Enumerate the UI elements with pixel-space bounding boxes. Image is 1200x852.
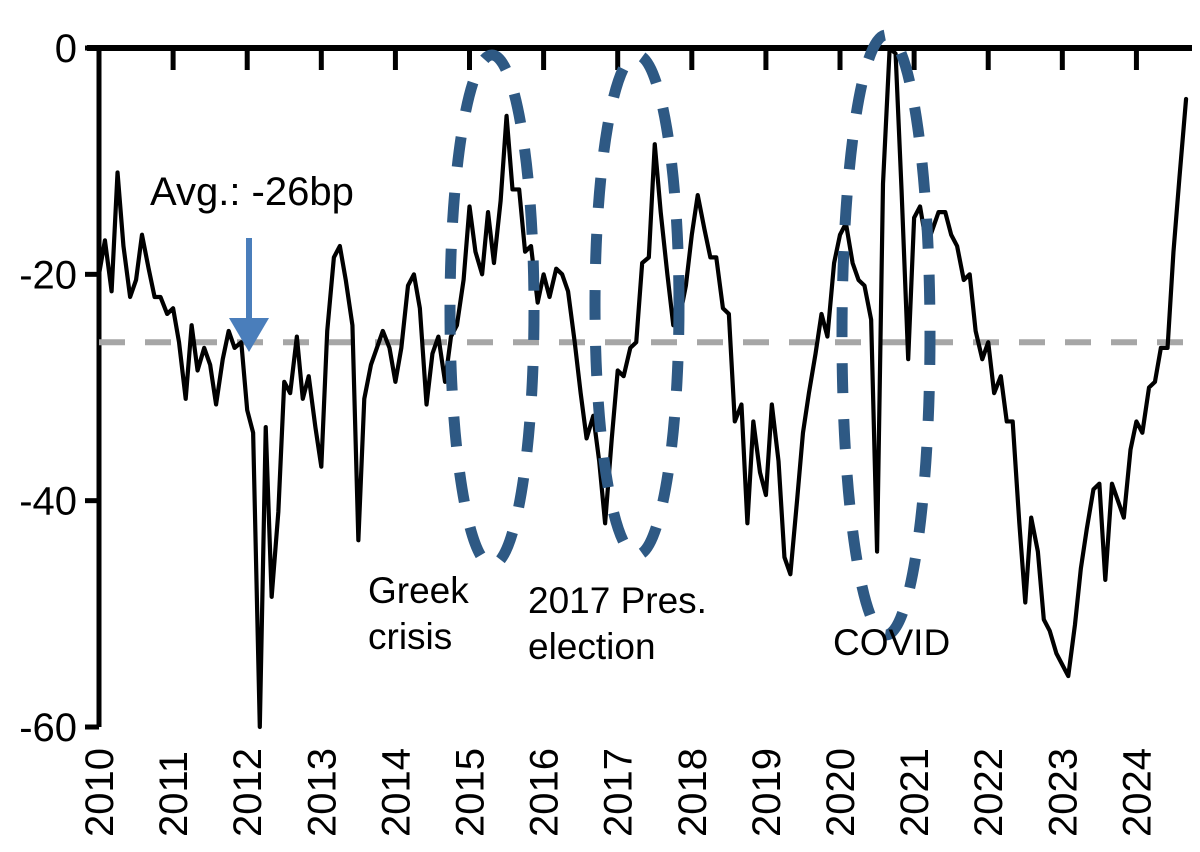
- x-tick-label: 2016: [523, 748, 567, 837]
- y-tick-label: -20: [19, 253, 77, 297]
- x-tick-label: 2012: [226, 748, 270, 837]
- y-tick-label: -60: [19, 706, 77, 750]
- average-annotation-label: Avg.: -26bp: [150, 170, 354, 214]
- line-chart: 0-20-40-60 20102011201220132014201520162…: [0, 0, 1200, 852]
- x-tick-label: 2023: [1041, 748, 1085, 837]
- x-tick-label: 2013: [300, 748, 344, 837]
- x-tick-label: 2024: [1115, 748, 1159, 837]
- x-axis-tick-labels: 2010201120122013201420152016201720182019…: [78, 748, 1159, 837]
- y-tick-label: 0: [55, 27, 77, 71]
- annotation-label-covid: COVID: [833, 622, 950, 663]
- x-tick-label: 2010: [78, 748, 122, 837]
- y-tick-label: -40: [19, 480, 77, 524]
- chart-container: 0-20-40-60 20102011201220132014201520162…: [0, 0, 1200, 852]
- x-tick-label: 2011: [152, 751, 196, 837]
- x-tick-label: 2020: [819, 748, 863, 837]
- x-tick-label: 2022: [967, 748, 1011, 837]
- x-tick-label: 2021: [893, 748, 937, 837]
- x-tick-label: 2019: [745, 748, 789, 837]
- x-tick-label: 2017: [597, 748, 641, 837]
- x-tick-label: 2018: [671, 748, 715, 837]
- x-tick-label: 2015: [449, 748, 493, 837]
- x-tick-label: 2014: [374, 748, 418, 837]
